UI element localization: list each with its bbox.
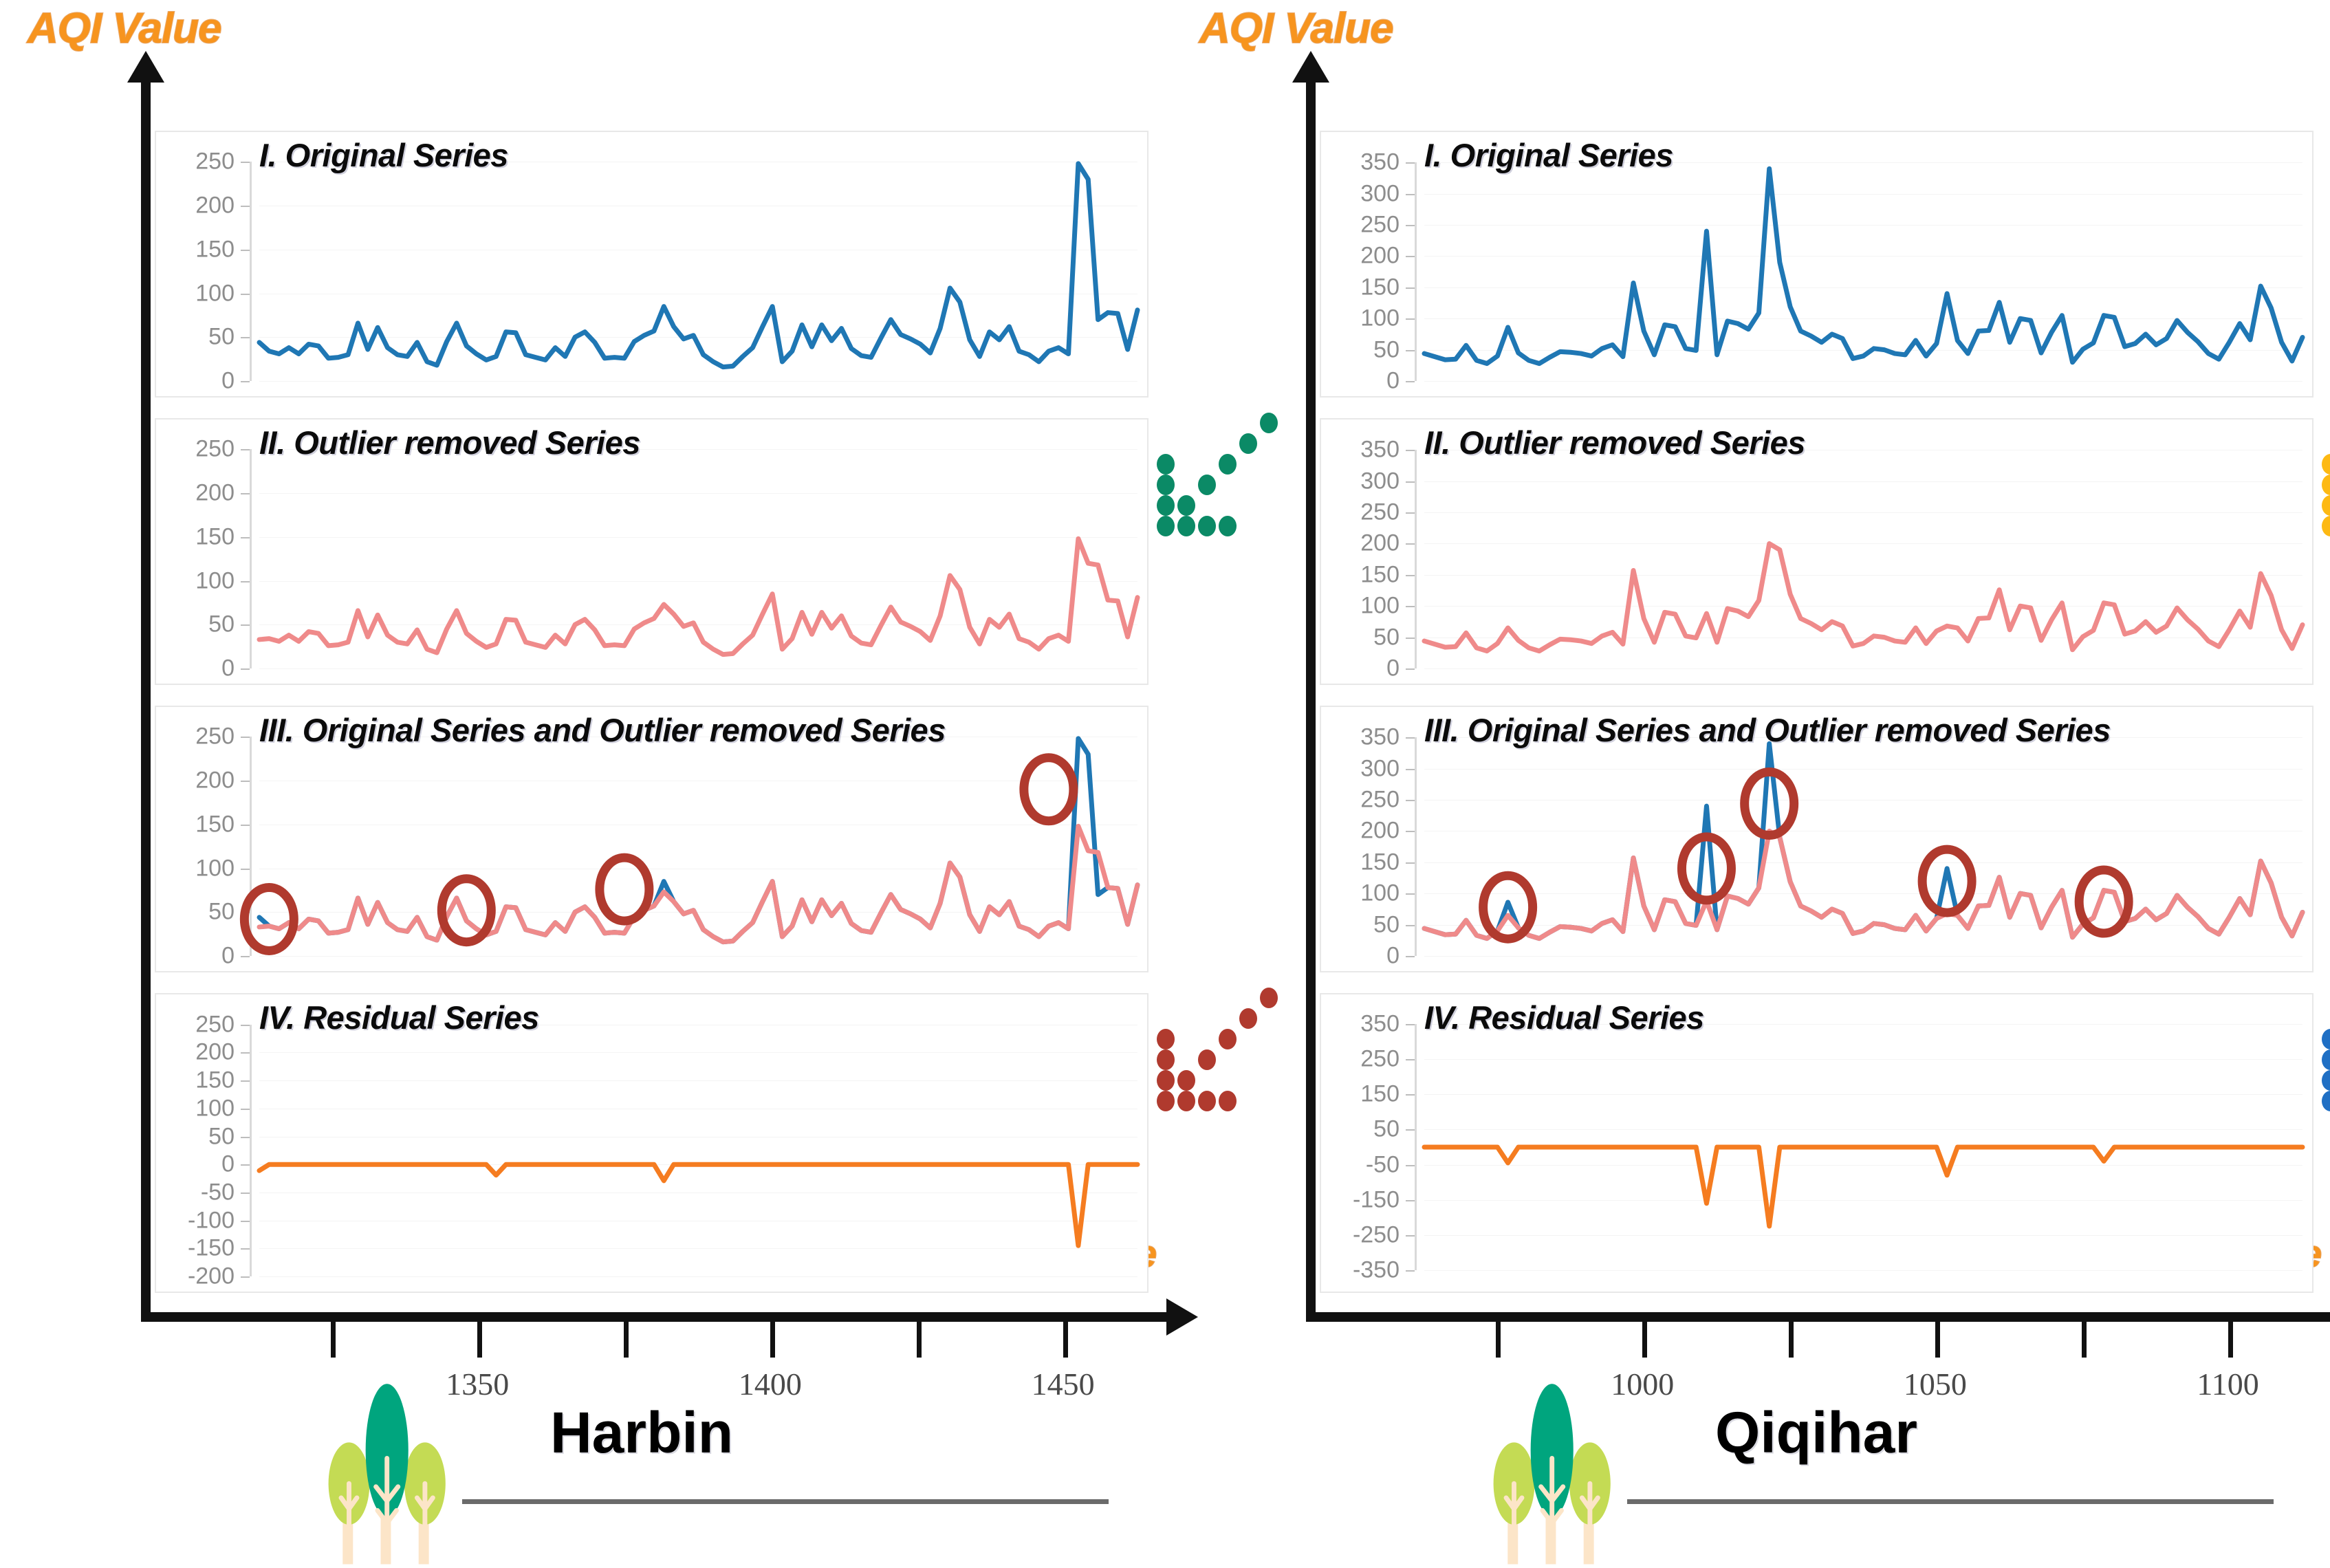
y-axis-tick-label: 200 [156,767,235,794]
y-axis-spine [1415,450,1417,668]
y-axis-tick [1406,831,1415,832]
outlier-highlight-circle [2079,870,2128,933]
y-axis-tick-label: -350 [1321,1256,1400,1283]
tree-icon [1474,1382,1633,1565]
y-axis-tick-label: 250 [1321,499,1400,526]
y-axis-tick [1406,1235,1415,1237]
y-axis-tick-label: 0 [1321,943,1400,970]
y-axis-tick-label: 100 [156,1095,235,1122]
y-axis-caption: AQI Value [1199,4,1393,53]
y-axis-tick-label: 50 [156,899,235,926]
y-axis-tick-label: -250 [1321,1221,1400,1248]
y-axis-tick [241,1080,250,1082]
y-axis-tick-label: 250 [1321,212,1400,239]
city-underline [1627,1499,2274,1504]
y-axis-tick [241,581,250,582]
y-axis-tick-label: 50 [1321,1116,1400,1143]
y-axis-tick [241,162,250,163]
y-axis-tick-label: 100 [156,567,235,594]
y-axis-tick-label: 50 [1321,911,1400,938]
y-axis-spine [1415,162,1417,381]
y-axis-tick-label: 250 [1321,1046,1400,1073]
y-axis-tick [241,1221,250,1222]
tree-icon [309,1382,468,1565]
series-line-residual [1424,1147,2302,1226]
y-axis-tick-label: 150 [156,811,235,838]
y-axis-line [141,83,151,1317]
decoration-dot [2322,1049,2330,1070]
series-line-original [259,164,1137,367]
subplot-title: IV. Residual Series [259,999,539,1036]
y-axis-tick-label: 150 [1321,274,1400,301]
outlier-highlight-circle [1745,772,1794,836]
x-axis-tick [477,1322,482,1358]
y-axis-tick-label: 200 [1321,243,1400,270]
x-axis-tick [2228,1322,2233,1358]
x-axis-line [1306,1312,2330,1322]
city-name-label: Harbin [550,1400,733,1466]
x-axis-tick-label: 1050 [1904,1366,1967,1402]
y-axis-tick-label: 100 [156,855,235,882]
city-block-harbin: AQI Valuetime135014001450I. Original Ser… [0,0,1165,1568]
y-axis-tick [241,668,250,670]
y-axis-tick-label: 350 [1321,724,1400,751]
subplot-title: I. Original Series [259,136,508,174]
decoration-dot [2322,516,2330,536]
y-axis-tick-label: 50 [1321,624,1400,651]
y-axis-tick [1406,606,1415,607]
series-line-cleaned [259,826,1137,941]
y-axis-tick [1406,162,1415,164]
y-axis-tick [1406,481,1415,483]
subplot-title: III. Original Series and Outlier removed… [259,711,946,749]
decoration-dot [2322,454,2330,475]
outlier-highlight-circle [1922,849,1972,913]
city-name-label: Qiqihar [1715,1400,1917,1466]
y-axis-spine [250,449,252,668]
y-axis-tick-label: -150 [1321,1186,1400,1213]
subplot-panel-2: II. Outlier removed Series05010015020025… [1320,418,2313,685]
y-axis-tick-label: 100 [1321,593,1400,620]
y-axis-tick-label: 250 [156,723,235,750]
scatter-dots-decoration [2322,1001,2330,1111]
y-axis-tick [1406,543,1415,545]
x-axis-tick [1496,1322,1501,1358]
x-axis-tick-label: 1400 [739,1366,802,1402]
y-axis-tick [241,737,250,738]
x-axis-tick [2082,1322,2087,1358]
y-axis-caption: AQI Value [28,4,221,53]
y-axis-tick [241,1025,250,1026]
y-axis-tick-label: 350 [1321,149,1400,176]
subplot-panel-1: I. Original Series050100150200250300350 [1320,131,2313,398]
y-axis-tick [1406,638,1415,639]
y-axis-arrowhead [127,51,164,83]
decoration-dot [2322,1070,2330,1091]
y-axis-spine [1415,1024,1417,1270]
y-axis-tick [241,1109,250,1110]
y-axis-tick-label: 200 [156,193,235,219]
y-axis-tick [1406,1094,1415,1096]
subplot-title: IV. Residual Series [1424,999,1704,1036]
y-axis-tick [1406,1024,1415,1025]
y-axis-tick [241,537,250,538]
y-axis-tick-label: 50 [156,324,235,351]
x-axis-line [141,1312,1169,1322]
y-axis-tick-label: 100 [1321,880,1400,907]
y-axis-tick [1406,350,1415,351]
outlier-highlight-circle [244,887,294,950]
city-underline [462,1499,1109,1504]
y-axis-tick-label: 200 [1321,818,1400,845]
subplot-panel-4: IV. Residual Series-200-150-100-50050100… [155,993,1148,1293]
y-axis-spine [250,737,252,956]
y-axis-tick-label: 150 [156,523,235,550]
y-axis-tick [241,381,250,382]
x-axis-tick-label: 1450 [1032,1366,1095,1402]
y-axis-tick [1406,1059,1415,1060]
outlier-highlight-circle [1024,758,1074,821]
outlier-highlight-circle [1681,837,1731,900]
y-axis-tick-label: 0 [1321,655,1400,682]
scatter-dots-decoration [2322,426,2330,536]
y-axis-tick [1406,862,1415,864]
y-axis-tick-label: 150 [156,236,235,263]
y-axis-tick [1406,769,1415,770]
subplot-panel-2: II. Outlier removed Series05010015020025… [155,418,1148,685]
y-axis-tick [1406,256,1415,257]
y-axis-tick-label: 0 [156,368,235,395]
y-axis-spine [250,162,252,381]
y-axis-tick-label: 350 [1321,1011,1400,1038]
y-axis-tick [241,825,250,826]
subplot-panel-1: I. Original Series050100150200250 [155,131,1148,398]
city-block-qiqihar: AQI Valuetime100010501100I. Original Ser… [1165,0,2330,1568]
series-line-cleaned [1424,543,2302,651]
y-axis-tick [241,1137,250,1138]
y-axis-tick [1406,956,1415,957]
subplot-panel-3: III. Original Series and Outlier removed… [155,706,1148,972]
y-axis-tick [241,1164,250,1166]
y-axis-tick [241,294,250,295]
y-axis-spine [250,1025,252,1276]
decoration-dot [2322,495,2330,516]
y-axis-tick-label: -100 [156,1207,235,1234]
y-axis-tick [1406,737,1415,739]
x-axis-tick [331,1322,336,1358]
y-axis-tick-label: 200 [156,1039,235,1066]
x-axis-tick [624,1322,629,1358]
y-axis-tick [241,1052,250,1054]
y-axis-tick-label: 300 [1321,755,1400,782]
y-axis-tick [1406,800,1415,801]
y-axis-tick [1406,318,1415,320]
y-axis-tick [1406,287,1415,289]
y-axis-tick-label: 200 [156,480,235,507]
y-axis-tick-label: -150 [156,1235,235,1262]
series-line-cleaned [259,538,1137,654]
y-axis-tick-label: 100 [156,280,235,307]
y-axis-tick [1406,668,1415,670]
y-axis-tick-label: 250 [156,436,235,463]
y-axis-tick-label: 150 [156,1067,235,1094]
y-axis-tick-label: 250 [156,149,235,175]
y-axis-tick-label: 0 [156,655,235,682]
y-axis-tick-label: 100 [1321,305,1400,332]
y-axis-tick-label: -50 [1321,1151,1400,1178]
y-axis-tick-label: 150 [1321,1081,1400,1108]
outlier-highlight-circle [600,858,649,921]
x-axis-tick [770,1322,775,1358]
y-axis-tick [241,869,250,870]
y-axis-spine [1415,737,1417,956]
y-axis-tick [241,493,250,494]
y-axis-tick-label: 300 [1321,180,1400,207]
subplot-title: II. Outlier removed Series [1424,424,1805,461]
y-axis-tick-label: 0 [1321,368,1400,395]
y-axis-tick [241,449,250,450]
decoration-dot [2322,475,2330,495]
y-axis-tick-label: 50 [1321,336,1400,363]
y-axis-tick [1406,1165,1415,1166]
y-axis-tick-label: -50 [156,1179,235,1206]
y-axis-tick-label: 300 [1321,468,1400,494]
y-axis-tick-label: 350 [1321,437,1400,464]
y-axis-tick [241,250,250,251]
y-axis-tick [1406,575,1415,576]
series-line-original [1424,168,2302,363]
y-axis-tick [241,781,250,782]
y-axis-tick [1406,925,1415,926]
x-axis-tick [1063,1322,1068,1358]
y-axis-tick-label: 150 [1321,849,1400,875]
y-axis-tick-label: 150 [1321,561,1400,588]
series-line-original [259,739,1137,942]
y-axis-tick [241,1193,250,1194]
y-axis-tick [241,1248,250,1250]
subplot-panel-4: IV. Residual Series-350-250-150-50501502… [1320,993,2313,1293]
y-axis-line [1306,83,1316,1317]
y-axis-tick-label: 250 [1321,787,1400,814]
y-axis-tick-label: 50 [156,1123,235,1150]
subplot-title: I. Original Series [1424,136,1673,174]
y-axis-tick [1406,1270,1415,1272]
y-axis-tick-label: 0 [156,1151,235,1178]
y-axis-tick [241,1276,250,1278]
y-axis-tick [241,337,250,338]
y-axis-tick [1406,512,1415,514]
y-axis-tick [241,206,250,207]
x-axis-tick [1642,1322,1647,1358]
y-axis-tick [1406,381,1415,382]
y-axis-tick [241,624,250,626]
subplot-panel-3: III. Original Series and Outlier removed… [1320,706,2313,972]
y-axis-tick [1406,194,1415,195]
y-axis-tick [1406,893,1415,895]
x-axis-tick-label: 1100 [2197,1366,2258,1402]
y-axis-tick-label: 200 [1321,530,1400,557]
y-axis-tick [1406,225,1415,226]
y-axis-tick [1406,1129,1415,1131]
y-axis-tick [1406,1200,1415,1201]
x-axis-tick [917,1322,922,1358]
y-axis-tick [241,956,250,957]
x-axis-tick [1935,1322,1940,1358]
series-line-cleaned [1424,831,2302,938]
decoration-dot [2322,1029,2330,1049]
y-axis-tick [1406,450,1415,451]
x-axis-tick [1789,1322,1794,1358]
decoration-dot [2322,1091,2330,1111]
subplot-title: III. Original Series and Outlier removed… [1424,711,2111,749]
y-axis-tick-label: -200 [156,1263,235,1290]
series-line-residual [259,1164,1137,1245]
y-axis-arrowhead [1292,51,1329,83]
aqi-decomposition-figure: AQI Valuetime135014001450I. Original Ser… [0,0,2330,1568]
y-axis-tick-label: 250 [156,1011,235,1038]
y-axis-tick-label: 0 [156,943,235,970]
y-axis-tick-label: 50 [156,611,235,638]
subplot-title: II. Outlier removed Series [259,424,640,461]
